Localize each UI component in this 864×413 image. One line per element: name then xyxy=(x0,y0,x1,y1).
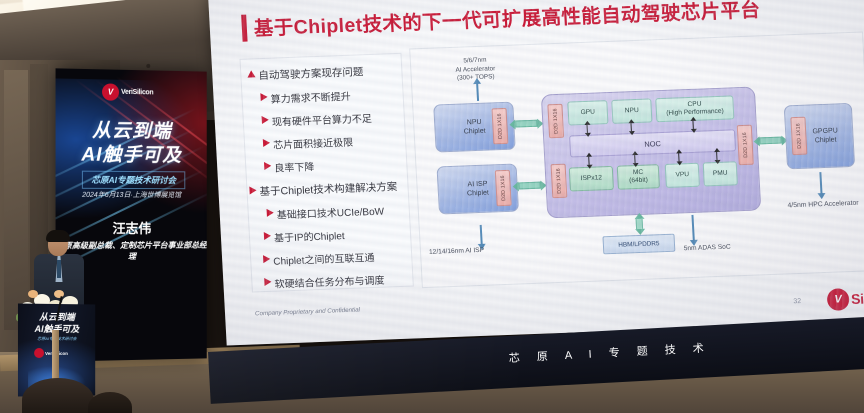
backdrop-subtitle: 芯原AI专题技术研讨会 xyxy=(82,171,185,190)
bullet-label: 现有硬件平台算力不足 xyxy=(271,110,372,129)
verisilicon-circle-icon: V xyxy=(102,83,119,100)
bullet-panel: 自动驾驶方案现存问题 算力需求不断提升 现有硬件平台算力不足 芯片面积接近极限 … xyxy=(239,53,413,293)
soc-isp-block: ISPx12 xyxy=(569,166,614,192)
ai-isp-process-caption: 12/14/16nm AI ISP xyxy=(429,245,539,258)
speaker-glasses-icon xyxy=(48,240,68,246)
bullet-item: 良率下降 xyxy=(264,155,407,175)
confidential-note: Company Proprietary and Confidential xyxy=(255,306,360,317)
link-soc-to-gpgpu xyxy=(753,135,787,145)
bullet-label: 自动驾驶方案现存问题 xyxy=(258,64,364,83)
bullet-item: 自动驾驶方案现存问题 xyxy=(247,63,402,84)
triangle-up-icon xyxy=(247,70,255,77)
soc-mc-block: MC (64bit) xyxy=(617,164,660,190)
soc-vpu-block: VPU xyxy=(665,163,700,188)
bullet-item: 基于Chiplet技术构建解决方案 xyxy=(249,179,408,200)
link-isp-to-soc xyxy=(512,180,546,190)
stage-strip-text: 芯 原 A I 专 题 技 术 xyxy=(508,339,711,366)
d2d-soc-left-top: D2D 1X16 xyxy=(547,104,564,139)
hpc-accelerator-caption: 4/5nm HPC Accelerator xyxy=(771,198,864,211)
d2d-interface-npu: D2D 1X16 xyxy=(491,108,508,145)
arrow-from-ai-isp xyxy=(480,225,483,245)
bullet-label: 基于IP的Chiplet xyxy=(274,227,345,245)
backdrop-date-venue: 2024年6月13日·上海世博展览馆 xyxy=(56,190,207,200)
bullet-label: 软硬结合任务分布与调度 xyxy=(274,272,385,291)
conference-photo-scene: V VeriSilicon 从云到端 AI触手可及 芯原AI专题技术研讨会 20… xyxy=(0,0,864,413)
slide-page-number: 32 xyxy=(793,298,801,305)
slide-title: 基于Chiplet技术的下一代可扩展高性能自动驾驶芯片平台 xyxy=(253,0,761,41)
bullet-item: 基础接口技术UCIe/BoW xyxy=(266,202,409,222)
backdrop-logo: V VeriSilicon xyxy=(102,83,153,101)
projection-screen: 基于Chiplet技术的下一代可扩展高性能自动驾驶芯片平台 自动驾驶方案现存问题… xyxy=(208,0,864,346)
bullet-item: 芯片面积接近极限 xyxy=(263,132,406,152)
triangle-right-icon xyxy=(267,209,274,217)
bullet-label: Chiplet之间的互联互通 xyxy=(273,249,375,268)
verisilicon-logo-text: Silicor xyxy=(851,290,864,307)
bullet-item: 算力需求不断提升 xyxy=(260,86,403,106)
backdrop-headline-line2: AI触手可及 xyxy=(56,139,207,167)
bullet-label: 芯片面积接近极限 xyxy=(273,134,354,152)
bullet-item: Chiplet之间的互联互通 xyxy=(263,248,412,269)
soc-pmu-block: PMU xyxy=(703,161,738,186)
triangle-right-icon xyxy=(249,186,256,194)
triangle-right-icon xyxy=(263,139,270,147)
triangle-right-icon xyxy=(264,162,271,170)
bullet-label: 良率下降 xyxy=(274,158,315,174)
verisilicon-circle-icon: V xyxy=(827,288,850,311)
speaker-tie xyxy=(57,260,61,278)
chiplet-block-diagram: 5/6/7nm AI Accelerator (300+ TOPS) NPU C… xyxy=(409,31,864,288)
triangle-right-icon xyxy=(264,278,271,286)
bullet-label: 基础接口技术UCIe/BoW xyxy=(276,203,384,222)
d2d-soc-left-bottom: D2D 1X16 xyxy=(551,164,568,199)
podium-logo: VeriSilicon xyxy=(34,348,68,358)
verisilicon-logo: V Silicor xyxy=(827,287,864,311)
triangle-right-icon xyxy=(264,232,271,240)
bullet-label: 基于Chiplet技术构建解决方案 xyxy=(259,179,397,199)
arrow-adas-soc-caption xyxy=(691,215,694,241)
bullet-item: 现有硬件平台算力不足 xyxy=(261,109,404,129)
d2d-soc-right: D2D 1X16 xyxy=(737,125,754,166)
backdrop-logo-text: VeriSilicon xyxy=(121,89,153,97)
podium-logo-circle-icon xyxy=(34,348,44,358)
d2d-interface-ai-isp: D2D 1X16 xyxy=(495,170,512,207)
bullet-item: 软硬结合任务分布与调度 xyxy=(264,271,413,292)
triangle-right-icon xyxy=(262,116,269,124)
arrow-hpc-caption xyxy=(819,172,822,194)
d2d-interface-gpgpu: D2D 1X16 xyxy=(790,117,807,156)
triangle-right-icon xyxy=(260,93,267,101)
bullet-item: 基于IP的Chiplet xyxy=(264,225,411,245)
title-accent-bar xyxy=(241,15,247,42)
bullet-label: 算力需求不断提升 xyxy=(270,88,351,106)
triangle-right-icon xyxy=(263,255,270,263)
arrow-to-npu-chiplet xyxy=(476,83,479,101)
link-npu-to-soc xyxy=(509,118,543,128)
arrow-soc-to-memory xyxy=(633,213,645,235)
